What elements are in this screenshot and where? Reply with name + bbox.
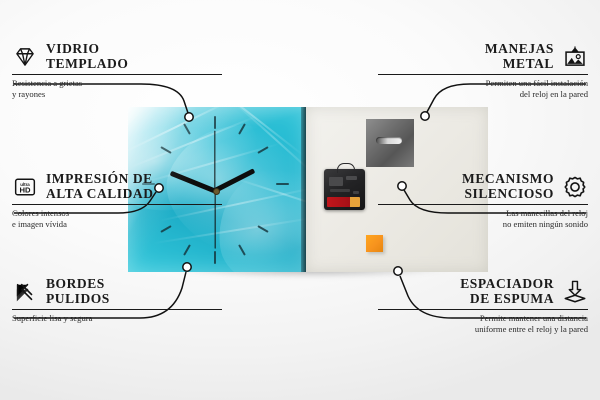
feature-header: ESPACIADOR DE ESPUMA [378, 277, 588, 306]
feature-header: ultra HD IMPRESIÓN DE ALTA CALIDAD [12, 172, 222, 201]
clock-mechanism [324, 169, 365, 210]
feature-title: ESPACIADOR DE ESPUMA [460, 277, 554, 306]
feature-rule [378, 309, 588, 310]
feature-rule [12, 309, 222, 310]
feature-title: BORDES PULIDOS [46, 277, 110, 306]
feature-espaciador-espuma: ESPACIADOR DE ESPUMA Permite mantener un… [378, 277, 588, 335]
feature-description: Superficie lisa y segura [12, 313, 222, 324]
feature-rule [378, 204, 588, 205]
mechanism-label [327, 197, 360, 207]
feature-description: Permiten una fácil instalación del reloj… [378, 78, 588, 99]
feature-description: Resistencia a grietas y rayones [12, 78, 222, 99]
feature-header: BORDES PULIDOS [12, 277, 222, 306]
feature-bordes-pulidos: BORDES PULIDOS Superficie lisa y segura [12, 277, 222, 324]
ultra-hd-icon: ultra HD [12, 174, 38, 200]
feature-header: VIDRIO TEMPLADO [12, 42, 222, 71]
feature-header: MECANISMO SILENCIOSO [378, 172, 588, 201]
foam-spacer [366, 235, 383, 252]
foam-spacer-icon [562, 279, 588, 305]
feature-rule [378, 74, 588, 75]
feature-impresion-alta-calidad: ultra HD IMPRESIÓN DE ALTA CALIDAD Color… [12, 172, 222, 230]
feature-title: VIDRIO TEMPLADO [46, 42, 128, 71]
metal-hanger [366, 119, 414, 167]
feature-rule [12, 204, 222, 205]
feature-mecanismo-silencioso: MECANISMO SILENCIOSO Las manecillas del … [378, 172, 588, 230]
diamond-icon [12, 44, 38, 70]
feature-description: Permite mantener una distancia uniforme … [378, 313, 588, 334]
svg-text:HD: HD [19, 185, 31, 194]
hanger-slot [376, 137, 402, 144]
gear-icon [562, 174, 588, 200]
feature-vidrio-templado: VIDRIO TEMPLADO Resistencia a grietas y … [12, 42, 222, 100]
polished-edges-icon [12, 279, 38, 305]
infographic-canvas: VIDRIO TEMPLADO Resistencia a grietas y … [0, 0, 600, 400]
feature-manejas-metal: MANEJAS METAL Permiten una fácil instala… [378, 42, 588, 100]
feature-header: MANEJAS METAL [378, 42, 588, 71]
feature-description: Las manecillas del reloj no emiten ningú… [378, 208, 588, 229]
feature-description: Colores intensos e imagen vívida [12, 208, 222, 229]
hanging-frame-icon [562, 44, 588, 70]
feature-title: MECANISMO SILENCIOSO [462, 172, 554, 201]
feature-rule [12, 74, 222, 75]
mechanism-loop [337, 163, 355, 173]
feature-title: IMPRESIÓN DE ALTA CALIDAD [46, 172, 154, 201]
feature-title: MANEJAS METAL [485, 42, 554, 71]
